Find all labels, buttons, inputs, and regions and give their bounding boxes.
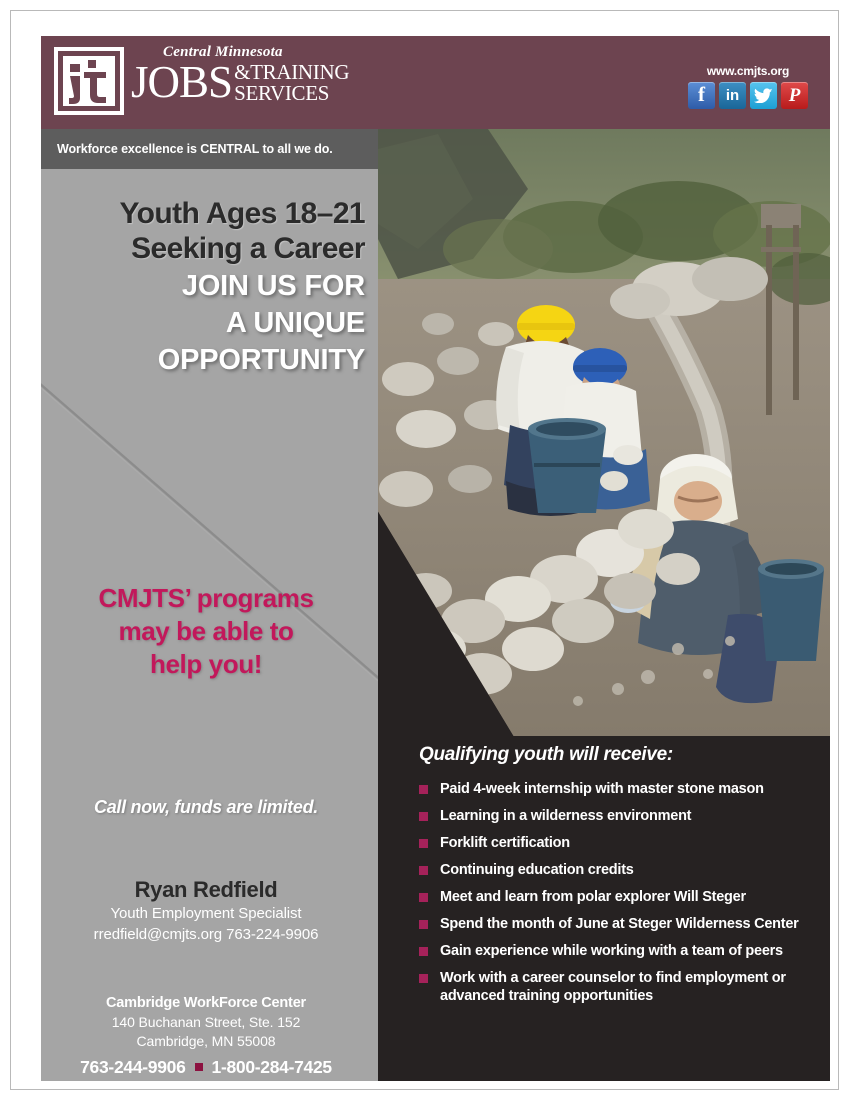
bullet-square-icon — [419, 866, 428, 875]
bullet-square-icon — [419, 920, 428, 929]
bullet-square-icon — [419, 974, 428, 983]
list-item-label: Work with a career counselor to find emp… — [440, 969, 819, 1005]
left-gray-panel: Youth Ages 18–21 Seeking a Career JOIN U… — [41, 169, 378, 1081]
poster-page: Central Minnesota JOBS&TRAININGSERVICES … — [0, 0, 849, 1100]
logo-training-line: &TRAINING — [234, 62, 349, 83]
pinterest-icon[interactable]: P — [781, 82, 808, 109]
social-icon-row: f in P — [688, 82, 808, 109]
headline-line-5: OPPORTUNITY — [41, 343, 365, 377]
poster-canvas: Central Minnesota JOBS&TRAININGSERVICES … — [41, 36, 830, 1081]
tagline-text: Workforce excellence is CENTRAL to all w… — [41, 142, 333, 156]
office-name: Cambridge WorkForce Center — [41, 994, 371, 1013]
office-street: 140 Buchanan Street, Ste. 152 — [41, 1013, 371, 1032]
logo-wordmark: Central Minnesota JOBS&TRAININGSERVICES — [131, 44, 381, 124]
office-city-state-zip: Cambridge, MN 55008 — [41, 1032, 371, 1051]
twitter-bird-glyph — [754, 88, 773, 103]
headline-line-1: Youth Ages 18–21 — [41, 196, 365, 231]
list-item: Meet and learn from polar explorer Will … — [419, 888, 819, 906]
bullet-square-icon — [419, 839, 428, 848]
jc-monogram-svg — [54, 47, 124, 115]
list-item: Work with a career counselor to find emp… — [419, 969, 819, 1005]
list-item: Gain experience while working with a tea… — [419, 942, 819, 960]
office-phone-local[interactable]: 763-244-9906 — [80, 1054, 185, 1080]
list-item: Learning in a wilderness environment — [419, 807, 819, 825]
bullet-square-icon — [419, 893, 428, 902]
list-item: Forklift certification — [419, 834, 819, 852]
list-item-label: Forklift certification — [440, 834, 570, 852]
twitter-icon[interactable] — [750, 82, 777, 109]
list-item-label: Gain experience while working with a tea… — [440, 942, 783, 960]
office-phone-toll-free[interactable]: 1-800-284-7425 — [212, 1054, 332, 1080]
list-item-label: Spend the month of June at Steger Wilder… — [440, 915, 799, 933]
contact-name: Ryan Redfield — [41, 877, 371, 903]
contact-title: Youth Employment Specialist — [41, 903, 371, 924]
list-item: Paid 4-week internship with master stone… — [419, 780, 819, 798]
logo-services-line: SERVICES — [234, 83, 349, 104]
contact-block: Ryan Redfield Youth Employment Specialis… — [41, 877, 371, 945]
list-item-label: Continuing education credits — [440, 861, 634, 879]
social-media-block: www.cmjts.org f in P — [688, 64, 808, 109]
list-item-label: Learning in a wilderness environment — [440, 807, 691, 825]
bucket-right — [758, 559, 824, 661]
list-item: Continuing education credits — [419, 861, 819, 879]
call-to-action-text: Call now, funds are limited. — [41, 797, 371, 818]
website-url[interactable]: www.cmjts.org — [688, 64, 808, 78]
logo-jobs-word: JOBS — [131, 61, 232, 103]
bucket-center — [528, 418, 606, 513]
headline-line-4: A UNIQUE — [41, 306, 365, 340]
pitch-block: CMJTS’ programs may be able to help you! — [41, 582, 371, 681]
list-item-label: Paid 4-week internship with master stone… — [440, 780, 764, 798]
bullet-square-icon — [419, 812, 428, 821]
stone-masonry-worksite-photo — [378, 129, 830, 736]
headline-line-3: JOIN US FOR — [41, 269, 365, 303]
tagline-bar: Workforce excellence is CENTRAL to all w… — [41, 129, 378, 169]
bullet-square-icon — [419, 785, 428, 794]
page-border: Central Minnesota JOBS&TRAININGSERVICES … — [10, 10, 839, 1090]
facebook-icon[interactable]: f — [688, 82, 715, 109]
office-block: Cambridge WorkForce Center 140 Buchanan … — [41, 994, 371, 1080]
pitch-line-3: help you! — [41, 648, 371, 681]
contact-email-phone[interactable]: rredfield@cmjts.org 763-224-9906 — [41, 924, 371, 945]
benefits-heading: Qualifying youth will receive: — [419, 744, 673, 766]
phone-separator-square-icon — [195, 1063, 203, 1071]
cmjts-jc-monogram-icon — [54, 47, 124, 115]
office-phone-row: 763-244-9906 1-800-284-7425 — [41, 1054, 371, 1080]
benefits-list: Paid 4-week internship with master stone… — [419, 780, 819, 1014]
pitch-line-2: may be able to — [41, 615, 371, 648]
photo-illustration — [378, 129, 830, 736]
headline-line-2: Seeking a Career — [41, 231, 365, 266]
headline-block: Youth Ages 18–21 Seeking a Career JOIN U… — [41, 196, 365, 377]
linkedin-icon[interactable]: in — [719, 82, 746, 109]
logo-training-services: &TRAININGSERVICES — [234, 62, 349, 104]
pitch-line-1: CMJTS’ programs — [41, 582, 371, 615]
bullet-square-icon — [419, 947, 428, 956]
list-item-label: Meet and learn from polar explorer Will … — [440, 888, 746, 906]
list-item: Spend the month of June at Steger Wilder… — [419, 915, 819, 933]
